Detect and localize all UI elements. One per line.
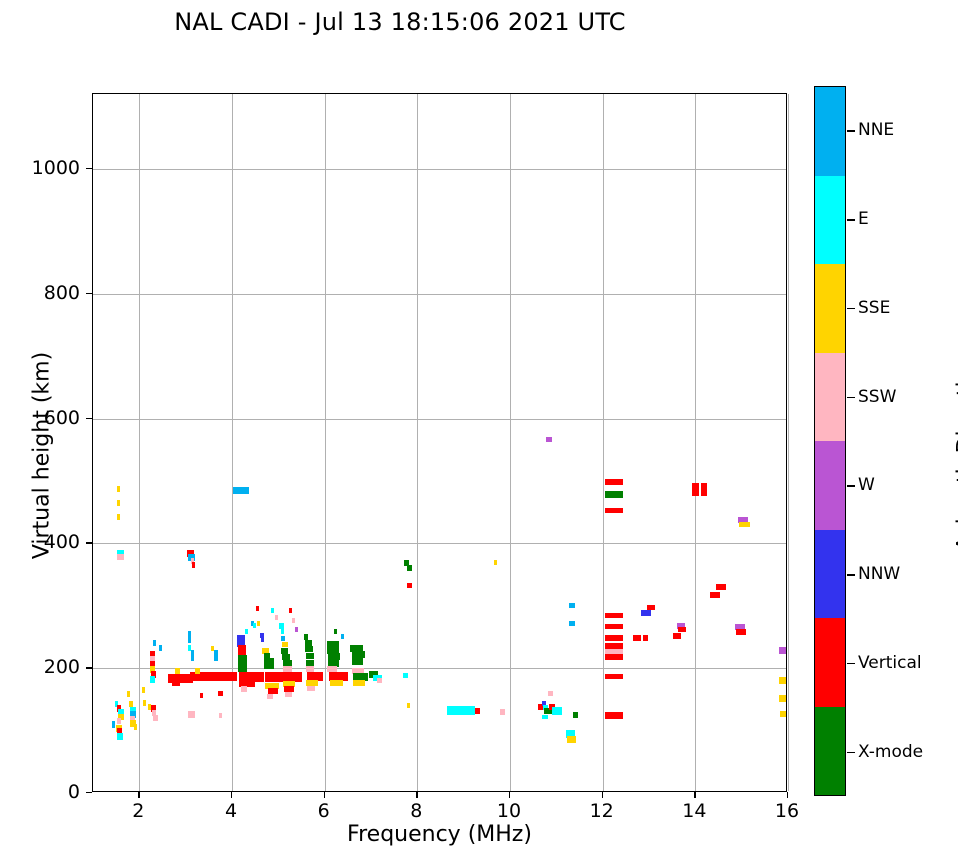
x-axis-label: Frequency (MHz): [92, 822, 787, 847]
ionogram-page: NAL CADI - Jul 13 18:15:06 2021 UTC 2468…: [0, 0, 958, 857]
data-point: [701, 483, 707, 496]
data-points-layer: [93, 94, 786, 791]
data-point: [238, 665, 247, 672]
colorbar-segment-sse: [815, 264, 845, 353]
page-title: NAL CADI - Jul 13 18:15:06 2021 UTC: [0, 8, 800, 36]
data-point: [569, 603, 575, 608]
data-point: [305, 646, 312, 652]
colorbar-tick: [847, 130, 855, 132]
x-tick-mark: [509, 792, 510, 798]
data-point: [605, 624, 623, 629]
x-tick-label: 12: [590, 800, 614, 822]
data-point: [172, 680, 180, 686]
data-point: [304, 634, 309, 640]
y-tick-mark: [86, 667, 92, 668]
data-point: [127, 691, 130, 697]
data-point: [283, 660, 292, 666]
data-point: [407, 703, 410, 708]
x-tick-label: 8: [410, 800, 422, 822]
data-point: [216, 672, 237, 681]
colorbar-tick: [847, 663, 855, 665]
data-point: [281, 636, 286, 641]
data-point: [447, 706, 475, 715]
y-tick-mark: [86, 293, 92, 294]
x-tick-label: 16: [775, 800, 799, 822]
data-point: [282, 642, 288, 647]
data-point: [643, 635, 648, 641]
data-point: [241, 686, 247, 692]
colorbar-segment-nnw: [815, 530, 845, 619]
x-tick-label: 6: [318, 800, 330, 822]
y-tick-label: 0: [12, 781, 80, 803]
data-point: [117, 500, 120, 506]
data-point: [153, 715, 158, 721]
data-point: [279, 623, 284, 629]
data-point: [117, 718, 121, 724]
data-point: [403, 673, 408, 678]
data-point: [195, 668, 200, 674]
data-point: [605, 674, 623, 679]
data-point: [305, 640, 311, 646]
data-point: [647, 605, 655, 610]
data-point: [188, 711, 195, 718]
colorbar-segment-x-mode: [815, 707, 845, 796]
x-tick-mark: [602, 792, 603, 798]
x-tick-mark: [787, 792, 788, 798]
data-point: [175, 668, 179, 674]
data-point: [117, 733, 123, 740]
data-point: [192, 562, 195, 568]
data-point: [256, 606, 259, 611]
data-point: [546, 437, 552, 442]
colorbar-segment-nne: [815, 87, 845, 176]
y-tick-mark: [86, 418, 92, 419]
data-point: [253, 623, 256, 628]
data-point: [257, 621, 260, 626]
colorbar-label-nnw: NNW: [858, 564, 900, 584]
data-point: [692, 483, 699, 496]
data-point: [494, 560, 497, 565]
data-point: [605, 712, 623, 719]
data-point: [673, 633, 681, 639]
data-point: [150, 676, 156, 683]
data-point: [233, 487, 249, 494]
data-point: [567, 736, 576, 743]
x-tick-label: 14: [682, 800, 706, 822]
data-point: [143, 700, 146, 706]
data-point: [219, 713, 222, 718]
data-point: [605, 491, 623, 498]
data-point: [605, 479, 623, 485]
colorbar-label-nne: NNE: [858, 120, 894, 140]
data-point: [352, 658, 364, 665]
plot-area: [92, 93, 787, 792]
data-point: [780, 711, 786, 717]
x-tick-label: 4: [225, 800, 237, 822]
colorbar-label-vertical: Vertical: [858, 653, 922, 673]
data-point: [710, 592, 720, 598]
colorbar-label-x-mode: X-mode: [858, 742, 923, 762]
data-point: [285, 692, 292, 697]
y-tick-mark: [86, 792, 92, 793]
data-point: [352, 651, 365, 658]
data-point: [261, 637, 265, 642]
data-point: [268, 688, 278, 694]
data-point: [191, 655, 194, 661]
gridline-vertical: [788, 94, 789, 791]
data-point: [353, 680, 365, 686]
data-point: [281, 648, 288, 654]
data-point: [377, 678, 383, 683]
data-point: [306, 660, 314, 666]
data-point: [573, 712, 579, 718]
data-point: [306, 680, 318, 686]
data-point: [605, 613, 623, 618]
data-point: [271, 608, 274, 613]
colorbar-tick: [847, 752, 855, 754]
data-point: [159, 645, 162, 651]
data-point: [407, 565, 412, 571]
colorbar-segment-ssw: [815, 353, 845, 442]
data-point: [306, 653, 313, 659]
data-point: [264, 663, 273, 669]
y-tick-mark: [86, 168, 92, 169]
x-tick-mark: [138, 792, 139, 798]
data-point: [211, 646, 214, 651]
data-point: [214, 655, 217, 661]
data-point: [552, 707, 562, 715]
data-point: [307, 686, 315, 691]
data-point: [341, 634, 344, 639]
data-point: [153, 640, 156, 646]
data-point: [678, 627, 686, 632]
y-axis-label: Virtual height (km): [30, 306, 55, 606]
colorbar-label-ssw: SSW: [858, 387, 896, 407]
x-tick-mark: [324, 792, 325, 798]
x-tick-mark: [694, 792, 695, 798]
colorbar-tick: [847, 397, 855, 399]
colorbar-label-w: W: [858, 475, 875, 495]
data-point: [548, 691, 553, 696]
data-point: [245, 629, 248, 634]
data-point: [188, 637, 191, 643]
data-point: [200, 693, 204, 698]
y-tick-label: 800: [12, 282, 80, 304]
colorbar-segment-e: [815, 176, 845, 265]
colorbar-segment-w: [815, 441, 845, 530]
data-point: [739, 522, 749, 527]
colorbar-tick: [847, 219, 855, 221]
data-point: [117, 514, 120, 520]
x-tick-mark: [231, 792, 232, 798]
y-tick-mark: [86, 542, 92, 543]
data-point: [500, 709, 506, 715]
data-point: [475, 708, 480, 714]
data-point: [334, 629, 337, 634]
x-tick-mark: [416, 792, 417, 798]
data-point: [275, 615, 278, 620]
data-point: [112, 721, 115, 728]
data-point: [779, 695, 786, 702]
data-point: [330, 680, 343, 686]
data-point: [716, 584, 726, 590]
colorbar-label-sse: SSE: [858, 298, 890, 318]
y-tick-label: 1000: [12, 157, 80, 179]
data-point: [542, 715, 548, 719]
colorbar-tick: [847, 574, 855, 576]
colorbar-title: Azimuth Direction: [954, 293, 958, 613]
data-point: [779, 647, 786, 654]
data-point: [605, 635, 623, 641]
data-point: [633, 635, 641, 641]
data-point: [779, 677, 786, 684]
x-tick-label: 2: [132, 800, 144, 822]
data-point: [267, 694, 273, 699]
data-point: [641, 610, 651, 616]
colorbar: [814, 86, 846, 796]
data-point: [289, 608, 292, 613]
x-tick-label: 10: [497, 800, 521, 822]
colorbar-tick: [847, 485, 855, 487]
data-point: [188, 631, 191, 637]
y-tick-label: 200: [12, 656, 80, 678]
data-point: [117, 486, 120, 492]
data-point: [295, 627, 298, 632]
data-point: [569, 621, 575, 626]
data-point: [117, 554, 123, 560]
colorbar-label-e: E: [858, 209, 869, 229]
data-point: [605, 654, 623, 660]
data-point: [281, 629, 285, 634]
data-point: [407, 583, 412, 588]
data-point: [605, 508, 623, 513]
data-point: [736, 629, 746, 635]
colorbar-segment-vertical: [815, 618, 845, 707]
data-point: [134, 724, 137, 730]
colorbar-tick: [847, 308, 855, 310]
data-point: [142, 687, 145, 693]
data-point: [292, 618, 295, 623]
data-point: [282, 654, 290, 660]
data-point: [218, 691, 223, 696]
